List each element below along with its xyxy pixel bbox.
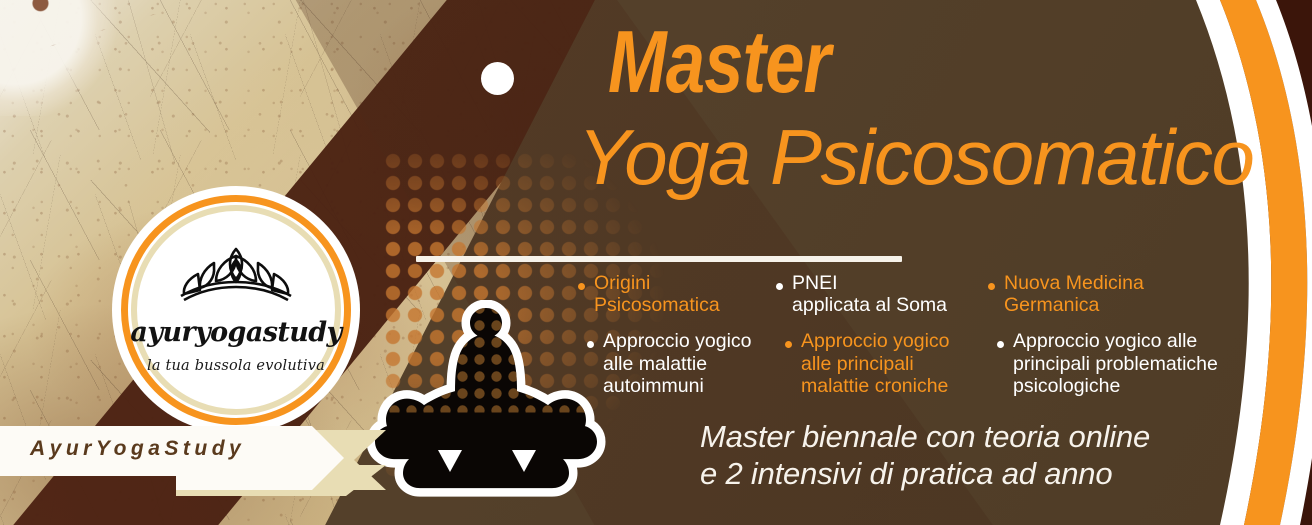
topics-column-2: PNEI applicata al Soma Approccio yogico … [776, 272, 988, 411]
topic-line: Approccio yogico [603, 330, 752, 352]
bullet-dot-icon [988, 283, 995, 290]
bullet-dot-icon [578, 283, 585, 290]
page-title-master: Master [608, 20, 830, 104]
topic-line: applicata al Soma [792, 294, 947, 316]
topic-item: PNEI applicata al Soma [776, 272, 988, 316]
ayuryogastudy-logo[interactable]: ayuryogastudy la tua bussola evolutiva [112, 186, 360, 434]
topic-item: Approccio yogico alle principali problem… [988, 330, 1268, 397]
topic-text: Approccio yogico alle principali malatti… [801, 330, 950, 397]
course-tagline: Master biennale con teoria online e 2 in… [700, 418, 1150, 492]
ribbon-label: AyurYogaStudy [30, 437, 245, 461]
topic-line: Approccio yogico alle [1013, 330, 1218, 352]
topic-text: Nuova Medicina Germanica [1004, 272, 1144, 316]
brand-ribbon: AyurYogaStudy [0, 420, 386, 496]
logo-wordmark: ayuryogastudy [130, 319, 341, 346]
topic-line: principali problematiche [1013, 353, 1218, 375]
topic-line: Origini [594, 272, 720, 294]
tagline-line: Master biennale con teoria online [700, 418, 1150, 455]
topic-line: PNEI [792, 272, 947, 294]
logo-inner-disc: ayuryogastudy la tua bussola evolutiva [139, 213, 333, 407]
topics-columns: Origini Psicosomatica Approccio yogico a… [578, 272, 1290, 411]
tagline-line: e 2 intensivi di pratica ad anno [700, 455, 1150, 492]
topic-line: Approccio yogico [801, 330, 950, 352]
white-dot-accent [481, 62, 514, 95]
topic-text: Approccio yogico alle principali problem… [1013, 330, 1218, 397]
lotus-crown-icon [176, 246, 296, 309]
logo-slogan: la tua bussola evolutiva [147, 358, 325, 374]
promo-banner: Master Yoga Psicosomatico Origini Psicos… [0, 0, 1312, 525]
topic-line: alle principali [801, 353, 950, 375]
topic-item: Nuova Medicina Germanica [988, 272, 1268, 316]
bullet-dot-icon [776, 283, 783, 290]
topic-line: malattie croniche [801, 375, 950, 397]
topic-line: autoimmuni [603, 375, 752, 397]
white-horizontal-rule [416, 256, 902, 262]
topic-item: Approccio yogico alle principali malatti… [776, 330, 988, 397]
topic-line: alle malattie [603, 353, 752, 375]
topic-line: Germanica [1004, 294, 1144, 316]
topic-line: Nuova Medicina [1004, 272, 1144, 294]
bullet-dot-icon [785, 341, 792, 348]
topic-text: PNEI applicata al Soma [792, 272, 947, 316]
topic-line: psicologiche [1013, 375, 1218, 397]
topics-column-3: Nuova Medicina Germanica Approccio yogic… [988, 272, 1268, 411]
topic-text: Approccio yogico alle malattie autoimmun… [603, 330, 752, 397]
meditating-yogi-silhouette [352, 300, 620, 525]
bullet-dot-icon [997, 341, 1004, 348]
page-title-subtitle: Yoga Psicosomatico [578, 118, 1253, 196]
